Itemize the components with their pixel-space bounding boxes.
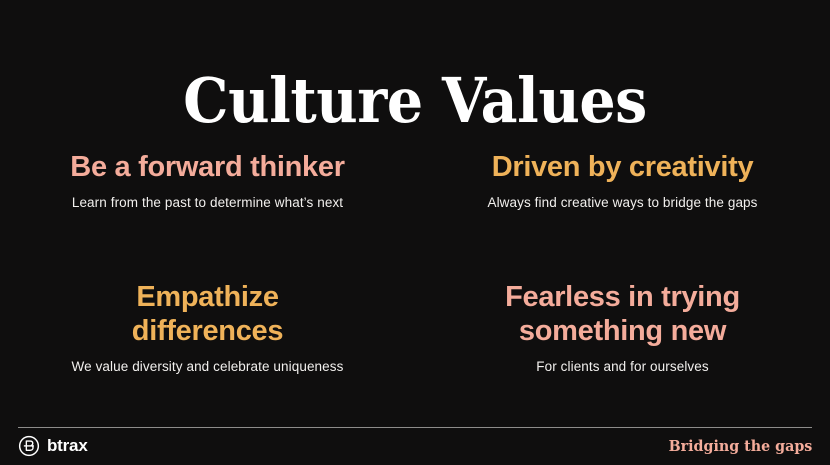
value-heading: Fearless in trying something new	[433, 280, 812, 348]
btrax-circle-b-icon	[18, 435, 40, 457]
value-subtitle: We value diversity and celebrate uniquen…	[18, 358, 397, 376]
value-subtitle: Always find creative ways to bridge the …	[433, 194, 812, 212]
culture-values-slide: Culture Values Be a forward thinker Lear…	[0, 0, 830, 465]
page-title: Culture Values	[33, 68, 797, 133]
value-subtitle: Learn from the past to determine what’s …	[18, 194, 397, 212]
brand-name: btrax	[47, 436, 88, 456]
footer-divider	[18, 427, 812, 428]
values-grid: Be a forward thinker Learn from the past…	[0, 150, 830, 376]
slide-footer: btrax Bridging the gaps	[0, 432, 830, 465]
value-card-driven-by-creativity: Driven by creativity Always find creativ…	[415, 150, 830, 212]
tagline: Bridging the gaps	[668, 437, 812, 455]
brand-logo: btrax	[18, 435, 88, 457]
value-card-empathize-differences: Empathize differences We value diversity…	[0, 280, 415, 376]
value-card-fearless-in-trying: Fearless in trying something new For cli…	[415, 280, 830, 376]
value-card-forward-thinker: Be a forward thinker Learn from the past…	[0, 150, 415, 212]
value-heading: Driven by creativity	[433, 150, 812, 184]
value-subtitle: For clients and for ourselves	[433, 358, 812, 376]
value-heading: Empathize differences	[18, 280, 397, 348]
value-heading: Be a forward thinker	[18, 150, 397, 184]
